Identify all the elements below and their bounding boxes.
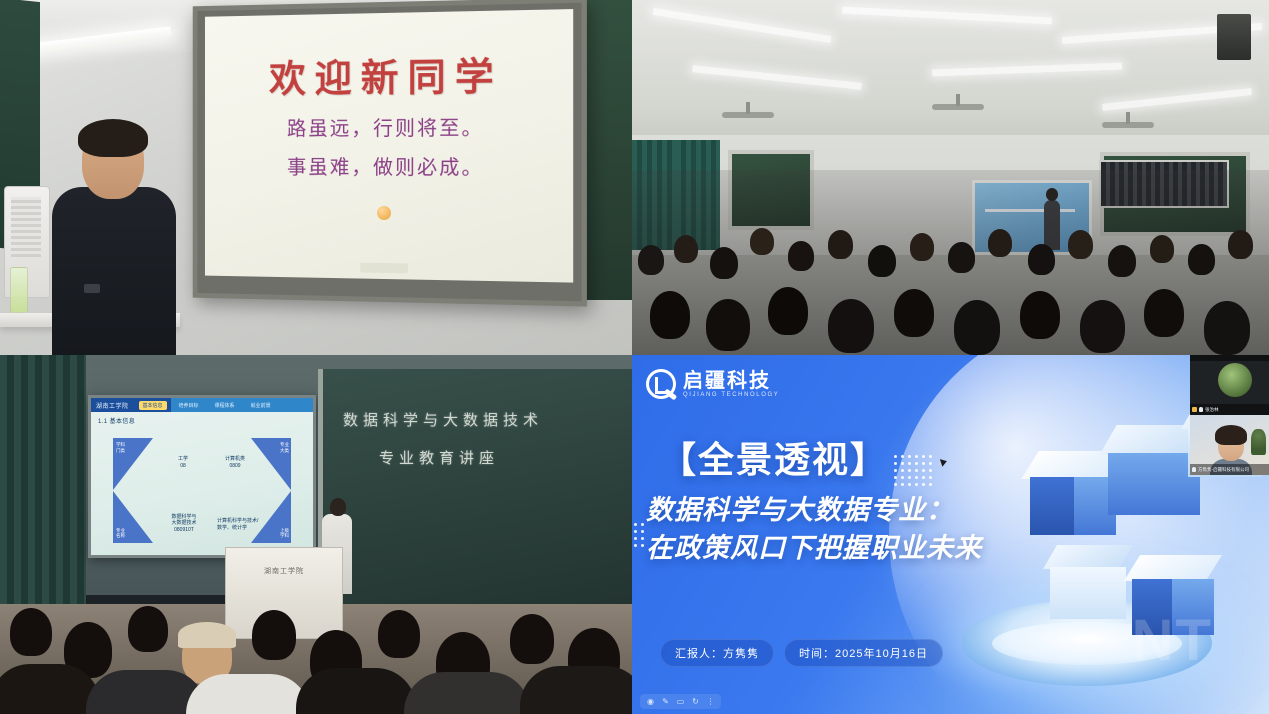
lecture-slide: 湖南工学院 基本信息 培养目标 课程体系 就业前景 1.1 基本信息 学科门类 … [91, 398, 313, 555]
tile-1-top-strip [1190, 355, 1269, 361]
audience-head [638, 245, 664, 275]
participant-tile-1[interactable]: 张治林 [1190, 355, 1269, 415]
audience-head [828, 230, 853, 259]
student-shoulders [404, 672, 530, 714]
tile-2-label: 方隽隽-启疆科技有限公司 [1190, 464, 1269, 475]
audience-head [1228, 230, 1253, 259]
slide-line-1: 路虽远，行则将至。 [287, 111, 484, 141]
panel-webinar-slide: 启疆科技 QIJIANG TECHNOLOGY 【全景透视】 数据科学与大数据专… [632, 355, 1269, 714]
dot-grid-decoration-2 [634, 523, 644, 547]
student-head [510, 614, 554, 664]
audience-head [910, 233, 934, 261]
blackboard-line-1: 数据科学与大数据技术 [343, 409, 543, 430]
student-head [378, 610, 420, 658]
slide-footer: 汇报人：方隽隽 时间：2025年10月16日 [660, 639, 943, 667]
projection-board: 欢迎新同学 路虽远，行则将至。 事虽难，做则必成。 [193, 0, 587, 307]
audience-head-front [706, 299, 750, 351]
student-head [252, 610, 296, 660]
presenter-pill: 汇报人：方隽隽 [660, 639, 774, 667]
plant-decoration [1251, 429, 1266, 455]
qijiang-logo-icon [646, 369, 676, 399]
screen-pull-tab [360, 263, 408, 274]
audience-head [750, 228, 774, 255]
audience-head-front [954, 300, 1000, 355]
panel-lecture-hall [632, 0, 1269, 355]
blackboard-line-2: 专业教育讲座 [379, 447, 499, 468]
projection-frame: 湖南工学院 基本信息 培养目标 课程体系 就业前景 1.1 基本信息 学科门类 … [88, 395, 316, 558]
host-badge-icon [1192, 407, 1197, 412]
watermark-text: NT [1132, 607, 1213, 674]
cube-4 [1050, 545, 1126, 621]
logo-text: 启疆科技 QIJIANG TECHNOLOGY [683, 371, 779, 398]
hall-audience [632, 170, 1269, 355]
photo-collage: 欢迎新同学 路虽远，行则将至。 事虽难，做则必成。 [0, 0, 1269, 714]
slide-title: 欢迎新同学 [269, 45, 503, 103]
slide-university-logo: 湖南工学院 [91, 401, 129, 410]
refresh-icon[interactable]: ↻ [691, 697, 700, 706]
record-icon[interactable]: ◉ [646, 697, 655, 706]
company-logo: 启疆科技 QIJIANG TECHNOLOGY [646, 369, 779, 399]
ceiling-fan-3 [1102, 122, 1154, 128]
slide-value-2: 数据科学与大数据技术080910T [157, 514, 211, 534]
wall-speaker [1217, 14, 1251, 60]
audience-head [1028, 244, 1055, 275]
slide-value-1: 计算机类0809 [209, 456, 261, 469]
participant-2-name: 方隽隽-启疆科技有限公司 [1198, 467, 1249, 473]
audience-head-front [894, 289, 934, 337]
student-head [128, 606, 168, 652]
audience-head-front [1080, 300, 1125, 353]
panel-welcome-lecture: 欢迎新同学 路虽远，行则将至。 事虽难，做则必成。 [0, 0, 632, 355]
audience-head-front [828, 299, 874, 353]
wristwatch [84, 284, 100, 293]
slide-nav-tabs: 基本信息 培养目标 课程体系 就业前景 [139, 401, 275, 410]
audience-head [674, 235, 698, 263]
participant-thumbnails: 张治林 方隽隽-启疆科技有限公司 [1190, 355, 1269, 475]
audience-head [1108, 245, 1136, 277]
dot-grid-decoration-1 [894, 455, 932, 486]
audience-head [948, 242, 975, 273]
slide-tag-1: 专业大类 [280, 442, 289, 453]
audience-head-front [650, 291, 690, 339]
participant-tile-2[interactable]: 方隽隽-启疆科技有限公司 [1190, 415, 1269, 475]
more-icon[interactable]: ⋮ [706, 697, 715, 706]
student-head [10, 608, 52, 656]
logo-text-cn: 启疆科技 [683, 371, 779, 392]
slide-nav-bar: 湖南工学院 基本信息 培养目标 课程体系 就业前景 [91, 398, 313, 412]
slide-heading: 1.1 基本信息 [98, 416, 135, 425]
slide-main-title: 【全景透视】 [660, 431, 888, 483]
cube-2 [1108, 425, 1200, 517]
slide-tab-1: 培养目标 [175, 401, 203, 410]
classroom-audience [0, 564, 632, 714]
audience-head-front [1204, 301, 1250, 355]
student-cap [178, 622, 236, 648]
slide-subtitle: 数据科学与大数据专业：在政策风口下把握职业未来 [646, 491, 1046, 568]
slide-line-2: 事虽难，做则必成。 [287, 151, 484, 180]
audience-head [788, 241, 814, 271]
audience-head [868, 245, 896, 277]
audience-head-front [1020, 291, 1060, 339]
avatar [1218, 363, 1252, 397]
tile-1-label: 张治林 [1190, 404, 1269, 415]
ceiling-fan-1 [722, 112, 774, 118]
projection-screen: 欢迎新同学 路虽远，行则将至。 事虽难，做则必成。 [205, 9, 573, 283]
panel-classroom-slide: 湖南工学院 基本信息 培养目标 课程体系 就业前景 1.1 基本信息 学科门类 … [0, 355, 632, 714]
mic-icon [1199, 407, 1203, 412]
participant-2-hair [1215, 425, 1247, 445]
annotation-toolbar[interactable]: ◉ ✎ ▭ ↻ ⋮ [640, 694, 721, 709]
speaker-body [52, 187, 176, 355]
slide-tab-3: 就业前景 [247, 401, 275, 410]
audience-head [988, 229, 1012, 257]
slide-tab-2: 课程体系 [211, 401, 239, 410]
slide-tag-0: 学科门类 [116, 442, 125, 453]
slide-tag-3: 上级学科 [280, 528, 289, 539]
slide-value-3: 计算机科学与技术/数学、统计学 [217, 518, 277, 531]
student-shoulders [520, 666, 632, 714]
slide-tab-0: 基本信息 [139, 401, 167, 410]
logo-text-en: QIJIANG TECHNOLOGY [683, 392, 779, 398]
slide-value-0: 工学08 [163, 456, 203, 469]
pen-icon[interactable]: ✎ [661, 697, 670, 706]
audience-head-front [768, 287, 808, 335]
student-shoulders [296, 668, 416, 714]
speaker-figure [52, 125, 176, 355]
slide-bullet-icon [377, 206, 391, 220]
audience-head [1150, 235, 1174, 263]
student-shoulders [186, 674, 310, 714]
speaker-hair [78, 119, 148, 157]
audience-head [1188, 244, 1215, 275]
ceiling-fan-2 [932, 104, 984, 110]
drink-bottle [10, 267, 28, 313]
cube-1 [1030, 451, 1116, 537]
camera-icon[interactable]: ▭ [676, 697, 685, 706]
audience-head [1068, 230, 1093, 259]
slide-tag-2: 专业名称 [116, 528, 125, 539]
date-pill: 时间：2025年10月16日 [784, 639, 943, 667]
audience-head-front [1144, 289, 1184, 337]
audience-head [710, 247, 738, 279]
participant-1-name: 张治林 [1205, 407, 1219, 413]
mic-icon [1192, 467, 1196, 472]
